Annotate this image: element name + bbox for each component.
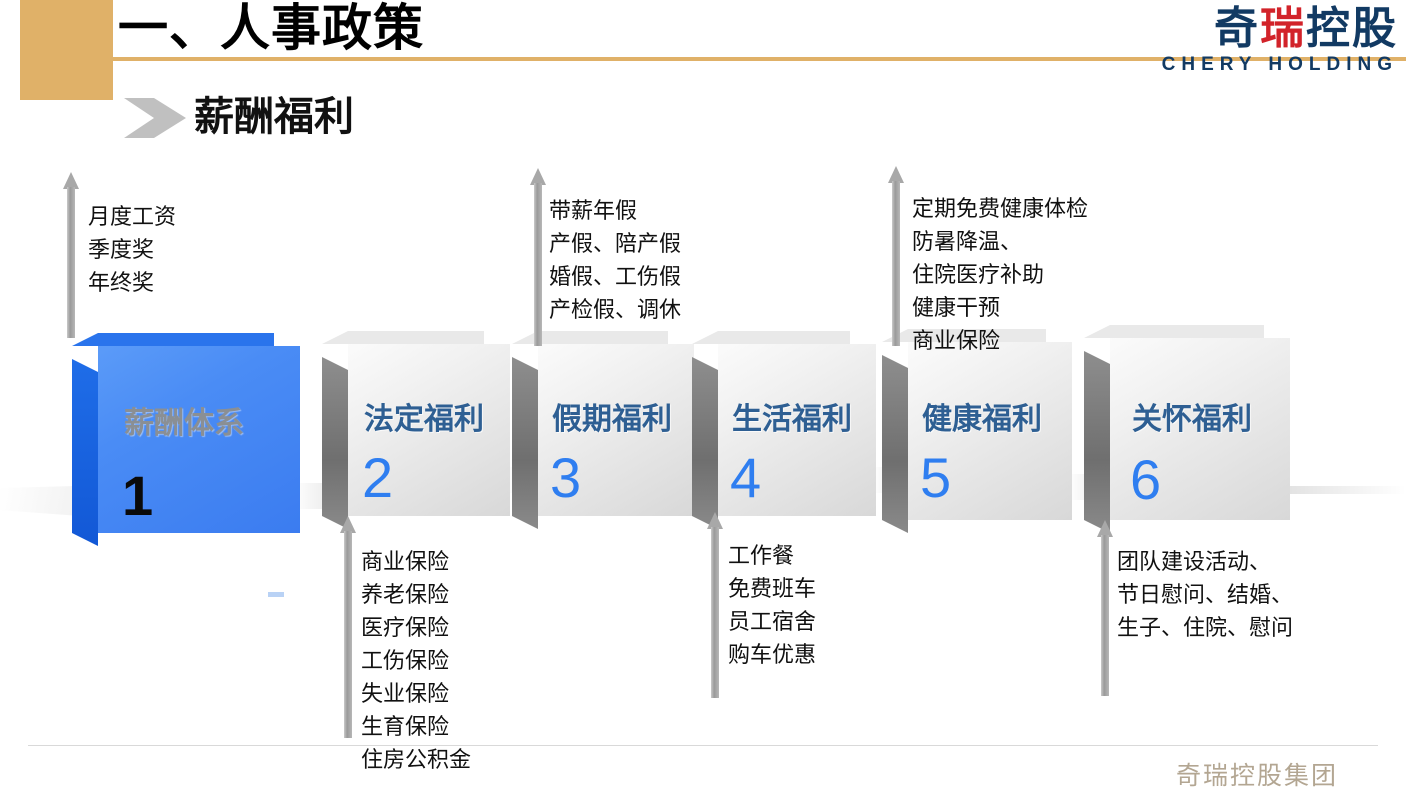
cube-1-side-face	[72, 359, 98, 546]
cube-4[interactable]: 生活福利 4	[718, 344, 876, 516]
footer-brand: 奇瑞控股集团	[1176, 756, 1338, 792]
callout-1: 月度工资季度奖年终奖	[88, 200, 176, 299]
logo-chinese: 奇瑞控股	[1142, 6, 1398, 52]
cube-6-side-face	[1084, 351, 1110, 533]
cube-2-title: 法定福利	[364, 394, 510, 438]
cube-2[interactable]: 法定福利 2	[348, 344, 510, 516]
callout-4: 工作餐免费班车员工宿舍购车优惠	[728, 539, 816, 671]
cube-1-top-face	[72, 333, 274, 346]
logo-english: CHERY HOLDING	[1142, 54, 1398, 76]
cube-2-number: 2	[362, 450, 510, 506]
cube-2-side-face	[322, 357, 348, 529]
cube-1-title: 薪酬体系	[124, 398, 300, 442]
arrow-up-3	[530, 168, 546, 346]
cube-4-label: 生活福利 4	[718, 344, 876, 516]
cube-5-number: 5	[920, 450, 1072, 506]
arrow-up-4	[707, 512, 723, 698]
cube-5-label: 健康福利 5	[908, 342, 1072, 520]
cube-5-side-face	[882, 355, 908, 533]
callout-2: 商业保险养老保险医疗保险工伤保险失业保险生育保险住房公积金	[361, 545, 471, 776]
title-accent-block	[20, 0, 113, 100]
callout-6: 团队建设活动、节日慰问、结婚、生子、住院、慰问	[1117, 545, 1293, 644]
cube-1[interactable]: 薪酬体系 1	[98, 346, 300, 533]
cube-4-side-face	[692, 357, 718, 529]
cube-4-number: 4	[730, 450, 876, 506]
stray-blue-mark	[268, 592, 284, 597]
cube-6-number: 6	[1130, 452, 1290, 508]
arrow-up-6	[1097, 520, 1113, 696]
logo-cn-konggu: 控股	[1306, 4, 1398, 53]
chevron-right-icon	[124, 96, 186, 140]
logo-cn-rui: 瑞	[1260, 4, 1306, 53]
slide-canvas: 一、人事政策 薪酬福利 奇瑞控股 CHERY HOLDING 薪酬体系 1 法定…	[0, 0, 1406, 796]
cube-3-label: 假期福利 3	[538, 344, 694, 516]
cube-6-top-face	[1084, 325, 1264, 338]
cube-1-number: 1	[122, 468, 300, 524]
cube-3[interactable]: 假期福利 3	[538, 344, 694, 516]
cube-6[interactable]: 关怀福利 6	[1110, 338, 1290, 520]
page-title: 一、人事政策	[118, 0, 424, 58]
arrow-up-2	[340, 516, 356, 738]
cube-4-title: 生活福利	[732, 394, 876, 438]
cube-1-label: 薪酬体系 1	[98, 346, 300, 533]
cube-3-title: 假期福利	[552, 394, 694, 438]
chery-holding-logo: 奇瑞控股 CHERY HOLDING	[1142, 6, 1398, 84]
cube-3-side-face	[512, 357, 538, 529]
cube-4-top-face	[692, 331, 850, 344]
cube-5[interactable]: 健康福利 5	[908, 342, 1072, 520]
cube-5-title: 健康福利	[922, 394, 1072, 438]
footer-divider	[28, 745, 1378, 746]
logo-cn-qi: 奇	[1214, 4, 1260, 53]
section-subtitle: 薪酬福利	[194, 92, 354, 142]
cube-2-label: 法定福利 2	[348, 344, 510, 516]
cube-6-label: 关怀福利 6	[1110, 338, 1290, 520]
callout-5: 定期免费健康体检防暑降温、住院医疗补助健康干预商业保险	[912, 192, 1088, 357]
cube-3-number: 3	[550, 450, 694, 506]
cube-6-title: 关怀福利	[1132, 394, 1290, 438]
arrow-up-1	[63, 172, 79, 338]
arrow-up-5	[888, 166, 904, 346]
callout-3: 带薪年假产假、陪产假婚假、工伤假产检假、调休	[549, 194, 681, 326]
cube-2-top-face	[322, 331, 484, 344]
